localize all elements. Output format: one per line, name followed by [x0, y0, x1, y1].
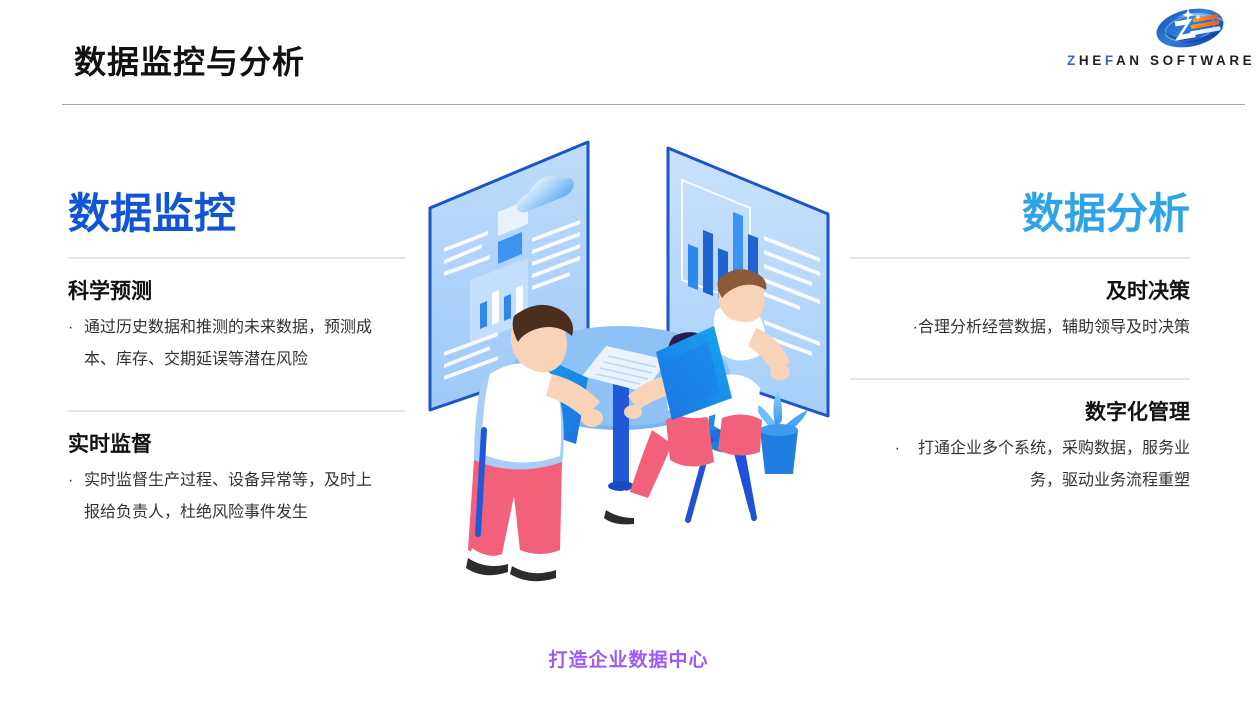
- left-column-divider-1: [68, 257, 405, 259]
- logo-letter-f: F: [1105, 53, 1116, 68]
- logo-letter-z: Z: [1067, 53, 1079, 68]
- left-block-2: 实时监督 · 实时监督生产过程、设备异常等，及时上报给负责人，杜绝风险事件发生: [68, 432, 408, 529]
- logo-letters-an-software: AN SOFTWARE: [1116, 53, 1255, 68]
- left-block-1-bullet-text: 通过历史数据和推测的未来数据，预测成本、库存、交期延误等潜在风险: [84, 312, 374, 376]
- right-block-2-bullet: · 打通企业多个系统，采购数据，服务业务，驱动业务流程重塑: [850, 433, 1190, 497]
- left-block-spacer: [68, 376, 408, 390]
- left-block-2-title: 实时监督: [68, 432, 408, 457]
- right-column-heading: 数据分析: [850, 190, 1190, 237]
- bullet-marker-icon: ·: [902, 312, 918, 344]
- slide-root: 数据监控与分析: [0, 0, 1257, 708]
- right-column-divider-2: [850, 378, 1190, 380]
- right-block-2-bullet-text: 打通企业多个系统，采购数据，服务业务，驱动业务流程重塑: [900, 433, 1190, 497]
- right-block-spacer: [850, 344, 1190, 358]
- brand-logo-text: ZHEFAN SOFTWARE: [1067, 53, 1247, 68]
- slide-header: 数据监控与分析: [0, 0, 1257, 110]
- data-teamwork-isometric-illustration: [420, 130, 840, 630]
- bullet-marker-icon: ·: [68, 312, 84, 376]
- left-block-1-title: 科学预测: [68, 279, 408, 304]
- page-title: 数据监控与分析: [74, 46, 305, 78]
- illustration-svg: [420, 130, 840, 630]
- brand-logo: ZHEFAN SOFTWARE: [1067, 4, 1247, 80]
- right-column: 数据分析 及时决策 · 合理分析经营数据，辅助领导及时决策 数字化管理 · 打通…: [850, 190, 1190, 497]
- right-block-1-bullet-text: 合理分析经营数据，辅助领导及时决策: [918, 312, 1190, 344]
- left-column-heading: 数据监控: [68, 190, 408, 237]
- left-block-1-bullet: · 通过历史数据和推测的未来数据，预测成本、库存、交期延误等潜在风险: [68, 312, 408, 376]
- right-block-1-bullet: · 合理分析经营数据，辅助领导及时决策: [850, 312, 1190, 344]
- left-block-2-bullet-text: 实时监督生产过程、设备异常等，及时上报给负责人，杜绝风险事件发生: [84, 465, 374, 529]
- left-block-2-bullet: · 实时监督生产过程、设备异常等，及时上报给负责人，杜绝风险事件发生: [68, 465, 408, 529]
- left-column: 数据监控 科学预测 · 通过历史数据和推测的未来数据，预测成本、库存、交期延误等…: [68, 190, 408, 529]
- bullet-marker-icon: ·: [884, 433, 900, 497]
- header-divider: [62, 104, 1245, 105]
- right-block-2: 数字化管理 · 打通企业多个系统，采购数据，服务业务，驱动业务流程重塑: [850, 400, 1190, 497]
- right-block-2-title: 数字化管理: [850, 400, 1190, 425]
- zhefan-logo-icon: [1149, 4, 1231, 52]
- left-column-divider-2: [68, 410, 405, 412]
- slide-caption: 打造企业数据中心: [0, 645, 1257, 672]
- right-column-divider-1: [850, 257, 1190, 259]
- logo-letters-he: HE: [1079, 53, 1105, 68]
- bullet-marker-icon: ·: [68, 465, 84, 529]
- left-block-1: 科学预测 · 通过历史数据和推测的未来数据，预测成本、库存、交期延误等潜在风险: [68, 279, 408, 376]
- right-block-1: 及时决策 · 合理分析经营数据，辅助领导及时决策: [850, 279, 1190, 344]
- right-block-1-title: 及时决策: [850, 279, 1190, 304]
